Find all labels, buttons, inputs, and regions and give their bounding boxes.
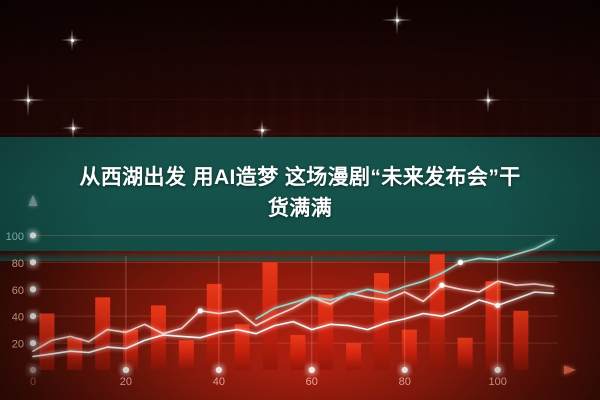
screenshot-root: 20406080100020406080100 从西湖出发 用AI造梦 这场漫剧… bbox=[0, 0, 600, 400]
page-title-line-2: 货满满 bbox=[0, 193, 600, 224]
page-title-line-1: 从西湖出发 用AI造梦 这场漫剧“未来发布会”干 bbox=[0, 162, 600, 193]
